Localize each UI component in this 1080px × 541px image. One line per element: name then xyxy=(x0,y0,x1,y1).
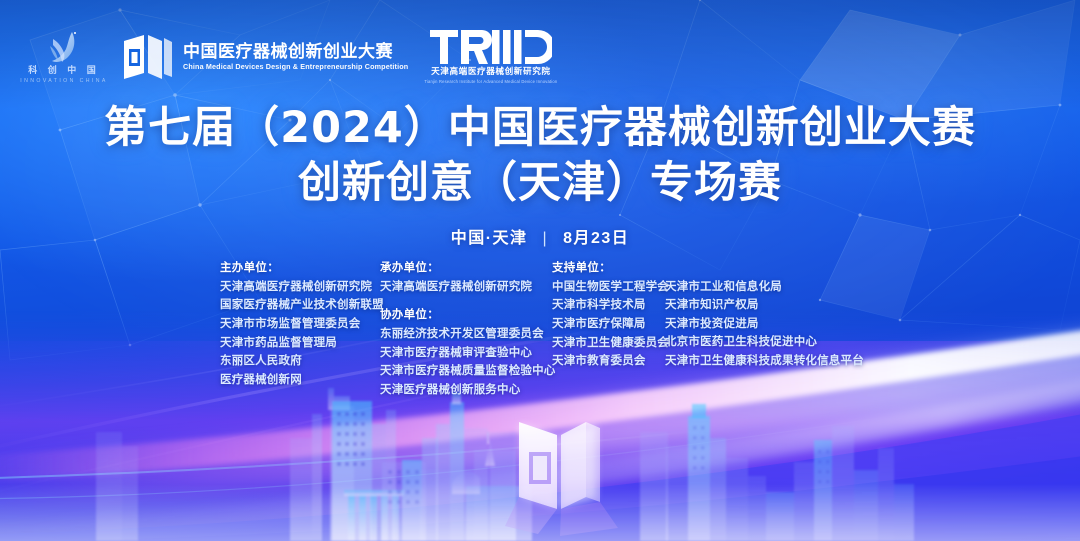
org-item: 天津市药品监督管理局 xyxy=(220,334,380,353)
logo-china-medical-devices-competition: 中国医疗器械创新创业大赛 China Medical Devices Desig… xyxy=(122,24,408,90)
title-line-2: 创新创意（天津）专场赛 xyxy=(0,159,1080,209)
triid-logo-en: Tianjin Research Institute for Advanced … xyxy=(424,80,557,84)
org-item: 天津市医疗保障局 xyxy=(552,315,665,334)
org-gap xyxy=(380,296,552,306)
org-item: 天津市科学技术局 xyxy=(552,296,665,315)
org-item: 天津市工业和信息化局 xyxy=(665,278,855,297)
org-item: 天津市卫生健康委员会 xyxy=(552,334,665,353)
org-item: 天津市卫生健康科技成果转化信息平台 xyxy=(665,352,855,371)
org-item: 天津市医疗器械质量监督检验中心 xyxy=(380,362,552,381)
date-separator: | xyxy=(542,230,548,248)
org-item: 北京市医药卫生科技促进中心 xyxy=(665,333,855,352)
org-supporter-right: 天津市工业和信息化局 天津市知识产权局 天津市投资促进局 北京市医药卫生科技促进… xyxy=(665,259,855,371)
bird-flame-mark-icon xyxy=(42,30,86,64)
cmdc-logo-cn: 中国医疗器械创新创业大赛 xyxy=(183,43,408,61)
org-item: 国家医疗器械产业技术创新联盟 xyxy=(220,296,380,315)
org-item: 中国生物医学工程学会 xyxy=(552,278,665,297)
kc-logo-cn: 科 创 中 国 xyxy=(28,66,100,75)
logo-bar: 科 创 中 国 INNOVATION CHINA 中国医疗器械创新创业大赛 Ch… xyxy=(20,24,557,90)
open-gate-book-mark-icon xyxy=(122,33,174,81)
org-item: 东丽经济技术开发区管理委员会 xyxy=(380,325,552,344)
logo-kechuang-zhongguo: 科 创 中 国 INNOVATION CHINA xyxy=(20,24,108,90)
org-column-supporter: 支持单位： 中国生物医学工程学会 天津市科学技术局 天津市医疗保障局 天津市卫生… xyxy=(552,259,855,371)
date-location-line: 中国·天津 | 8月23日 xyxy=(0,224,1080,248)
org-supporter-left: 支持单位： 中国生物医学工程学会 天津市科学技术局 天津市医疗保障局 天津市卫生… xyxy=(552,259,665,371)
org-column-organizer: 承办单位： 天津高端医疗器械创新研究院 协办单位： 东丽经济技术开发区管理委员会… xyxy=(380,259,552,399)
org-item: 天津高端医疗器械创新研究院 xyxy=(220,278,380,297)
org-item: 天津高端医疗器械创新研究院 xyxy=(380,278,552,297)
org-heading-host: 主办单位： xyxy=(220,259,380,278)
title-line-1: 第七届（2024）中国医疗器械创新创业大赛 xyxy=(0,104,1080,154)
kc-logo-en: INNOVATION CHINA xyxy=(20,79,108,84)
triid-logo-cn: 天津高端医疗器械创新研究院 xyxy=(431,67,551,76)
logo-triid: 天津高端医疗器械创新研究院 Tianjin Research Institute… xyxy=(424,24,557,90)
org-spacer xyxy=(665,259,855,278)
org-item: 天津市医疗器械审评查验中心 xyxy=(380,344,552,363)
org-item: 医疗器械创新网 xyxy=(220,371,380,390)
org-item: 天津市教育委员会 xyxy=(552,352,665,371)
event-poster: 科 创 中 国 INNOVATION CHINA 中国医疗器械创新创业大赛 Ch… xyxy=(0,0,1080,541)
org-heading-organizer: 承办单位： xyxy=(380,259,552,278)
org-item: 天津市投资促进局 xyxy=(665,315,855,334)
org-item: 天津市市场监督管理委员会 xyxy=(220,315,380,334)
cmdc-logo-en: China Medical Devices Design & Entrepren… xyxy=(183,63,408,70)
org-heading-co-organizer: 协办单位： xyxy=(380,306,552,325)
org-item: 天津医疗器械创新服务中心 xyxy=(380,381,552,400)
triid-wordmark-icon xyxy=(430,30,552,64)
org-heading-supporter: 支持单位： xyxy=(552,259,665,278)
poster-title: 第七届（2024）中国医疗器械创新创业大赛 创新创意（天津）专场赛 xyxy=(0,104,1080,209)
date-text: 8月23日 xyxy=(563,230,629,247)
org-item: 东丽区人民政府 xyxy=(220,352,380,371)
org-column-host: 主办单位： 天津高端医疗器械创新研究院 国家医疗器械产业技术创新联盟 天津市市场… xyxy=(220,259,380,389)
location-text: 中国·天津 xyxy=(451,230,528,247)
org-item: 天津市知识产权局 xyxy=(665,296,855,315)
organizations-block: 主办单位： 天津高端医疗器械创新研究院 国家医疗器械产业技术创新联盟 天津市市场… xyxy=(0,259,1080,399)
